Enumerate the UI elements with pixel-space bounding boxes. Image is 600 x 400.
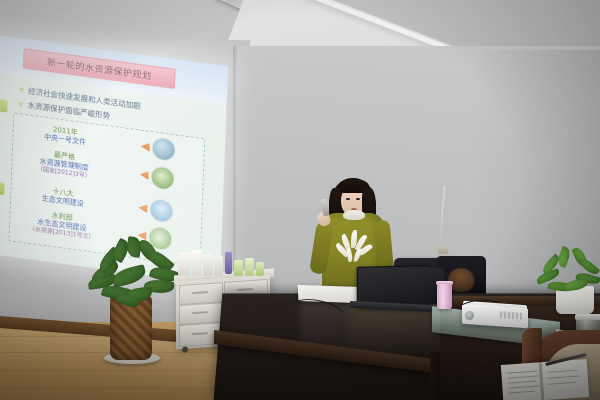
bottle-green-1	[234, 260, 243, 276]
wall-outlet[interactable]	[438, 246, 448, 254]
plant-foliage	[88, 240, 180, 310]
bottle-white-3	[203, 254, 213, 276]
projector-vent	[500, 311, 522, 320]
pink-cup[interactable]	[437, 284, 452, 309]
bottle-purple	[225, 252, 232, 274]
right-plant-foliage	[534, 250, 600, 298]
bottle-white-2	[191, 250, 202, 276]
room-photo: 新一轮的水资源保护规划 经济社会快速发展和人类活动加剧 水资源保护面临严峻形势 …	[0, 0, 600, 400]
jar-lid	[575, 314, 600, 320]
bottle-green-2	[245, 258, 254, 276]
bottle-white-4	[214, 256, 223, 276]
bottle-white-1	[178, 252, 190, 276]
bottle-green-3	[256, 262, 264, 276]
presenter-collar	[343, 210, 365, 220]
sweater-leaf-motif	[339, 230, 369, 264]
